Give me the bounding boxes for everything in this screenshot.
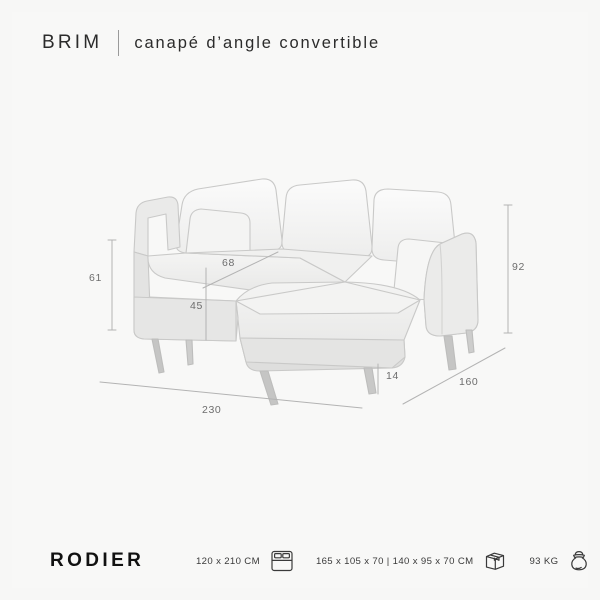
left-arm (134, 197, 180, 256)
bed-icon (269, 549, 295, 573)
leg-rear-left (186, 340, 193, 365)
dim-line-230 (100, 382, 362, 408)
dimension-label-68: 68 (222, 257, 235, 269)
spec-sleeping-surface-size: 120 x 210 CM (196, 556, 260, 567)
dimension-label-230: 230 (202, 404, 221, 416)
back-cushion-center (282, 180, 372, 258)
leg-chaise-right (364, 368, 376, 394)
dimension-label-14: 14 (386, 370, 399, 382)
dimension-label-160: 160 (459, 376, 478, 388)
rodier-logo: RODIER (50, 550, 144, 572)
spec-package-sizes: 165 x 105 x 70 | 140 x 95 x 70 CM (316, 556, 474, 567)
dimension-label-61: 61 (89, 272, 102, 284)
sofa-group (134, 179, 478, 405)
dimension-label-45: 45 (190, 300, 203, 312)
box-icon (482, 549, 508, 573)
kettlebell-icon (567, 549, 591, 573)
dimension-label-92: 92 (512, 261, 525, 273)
leg-chaise-front (260, 371, 278, 405)
base-left-front (134, 297, 236, 341)
leg-rear-right (466, 330, 474, 353)
leg-right-arm (444, 336, 456, 370)
spec-list: 120 x 210 CM 165 x 105 x 70 | 140 x 95 x… (196, 549, 591, 573)
footer: RODIER 120 x 210 CM 165 x 105 x 70 | 140… (0, 538, 600, 584)
sofa-illustration: 61 68 45 92 14 160 230 (0, 0, 600, 600)
product-dimension-sheet: BRIM canapé d’angle convertible (0, 0, 600, 600)
leg-front-left (152, 339, 164, 373)
spec-weight: 93 KG (529, 556, 558, 567)
